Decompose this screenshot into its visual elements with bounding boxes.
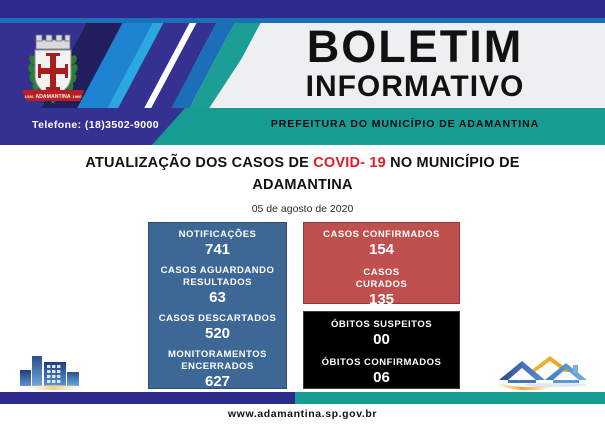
stat-obitos-suspeitos-label: ÓBITOS SUSPEITOS xyxy=(304,319,459,331)
stat-notificacoes-label: NOTIFICAÇÕES xyxy=(149,229,286,241)
boletim-informativo-poster: ADAMANTINA 1936 1900 BOLETIM INFORMATIVO… xyxy=(0,0,605,428)
stat-obitos-suspeitos: ÓBITOS SUSPEITOS 00 xyxy=(304,319,459,349)
stat-obitos-confirmados-label: ÓBITOS CONFIRMADOS xyxy=(304,357,459,369)
footer-bar-teal xyxy=(295,392,605,404)
page-title-part2: NO MUNICÍPIO DE xyxy=(386,155,520,171)
page-title-line2: ADAMANTINA xyxy=(0,174,605,196)
header-banner: ADAMANTINA 1936 1900 BOLETIM INFORMATIVO… xyxy=(0,0,605,145)
stat-casos-aguardando-value: 63 xyxy=(149,289,286,307)
city-skyline-icon xyxy=(18,348,94,392)
stat-monitoramentos: MONITORAMENTOS ENCERRADOS 627 xyxy=(149,349,286,391)
stat-casos-curados-label-2: CURADOS xyxy=(304,279,459,291)
emblem-year-left: 1936 xyxy=(25,94,35,99)
header-title-boletim: BOLETIM xyxy=(230,24,600,70)
header-phone: Telefone: (18)3502-9000 xyxy=(8,119,183,131)
stat-casos-curados: CASOS CURADOS 135 xyxy=(304,267,459,309)
stats-box-black: ÓBITOS SUSPEITOS 00 ÓBITOS CONFIRMADOS 0… xyxy=(303,311,460,389)
header-title-group: BOLETIM INFORMATIVO xyxy=(230,24,600,110)
emblem-year-right: 1900 xyxy=(73,94,83,99)
stat-obitos-suspeitos-value: 00 xyxy=(304,331,459,349)
stats-box-blue: NOTIFICAÇÕES 741 CASOS AGUARDANDO RESULT… xyxy=(148,222,287,389)
page-title-part1: ATUALIZAÇÃO DOS CASOS DE xyxy=(85,155,313,171)
header-subtitle: PREFEITURA DO MUNICÍPIO DE ADAMANTINA xyxy=(215,118,595,130)
stat-monitoramentos-value: 627 xyxy=(149,373,286,391)
footer-website-url: www.adamantina.sp.gov.br xyxy=(0,408,605,420)
header-title-informativo: INFORMATIVO xyxy=(230,70,600,104)
emblem-ribbon-text: ADAMANTINA xyxy=(35,94,70,100)
page-title-block: ATUALIZAÇÃO DOS CASOS DE COVID- 19 NO MU… xyxy=(0,152,605,215)
stat-casos-confirmados-value: 154 xyxy=(304,241,459,259)
stats-box-red: CASOS CONFIRMADOS 154 CASOS CURADOS 135 xyxy=(303,222,460,304)
stat-casos-descartados-value: 520 xyxy=(149,325,286,343)
stat-casos-curados-label-1: CASOS xyxy=(304,267,459,279)
stat-obitos-confirmados: ÓBITOS CONFIRMADOS 06 xyxy=(304,357,459,387)
stat-notificacoes: NOTIFICAÇÕES 741 xyxy=(149,229,286,259)
stat-monitoramentos-label-1: MONITORAMENTOS xyxy=(149,349,286,361)
stat-casos-descartados: CASOS DESCARTADOS 520 xyxy=(149,313,286,343)
footer-bar-navy xyxy=(0,392,295,404)
stat-casos-descartados-label: CASOS DESCARTADOS xyxy=(149,313,286,325)
stat-obitos-confirmados-value: 06 xyxy=(304,369,459,387)
stat-notificacoes-value: 741 xyxy=(149,241,286,259)
stat-casos-curados-value: 135 xyxy=(304,291,459,309)
stat-casos-confirmados: CASOS CONFIRMADOS 154 xyxy=(304,229,459,259)
stat-monitoramentos-label-2: ENCERRADOS xyxy=(149,361,286,373)
stat-casos-aguardando-label-1: CASOS AGUARDANDO xyxy=(149,265,286,277)
stat-casos-aguardando-label-2: RESULTADOS xyxy=(149,277,286,289)
page-title-covid-highlight: COVID- 19 xyxy=(313,155,386,171)
report-date: 05 de agosto de 2020 xyxy=(0,203,605,215)
stat-casos-confirmados-label: CASOS CONFIRMADOS xyxy=(304,229,459,241)
stat-casos-aguardando: CASOS AGUARDANDO RESULTADOS 63 xyxy=(149,265,286,307)
page-title: ATUALIZAÇÃO DOS CASOS DE COVID- 19 NO MU… xyxy=(0,152,605,196)
houses-rooftops-icon xyxy=(495,348,595,392)
brasao-adamantina-icon: ADAMANTINA 1936 1900 xyxy=(20,32,86,110)
